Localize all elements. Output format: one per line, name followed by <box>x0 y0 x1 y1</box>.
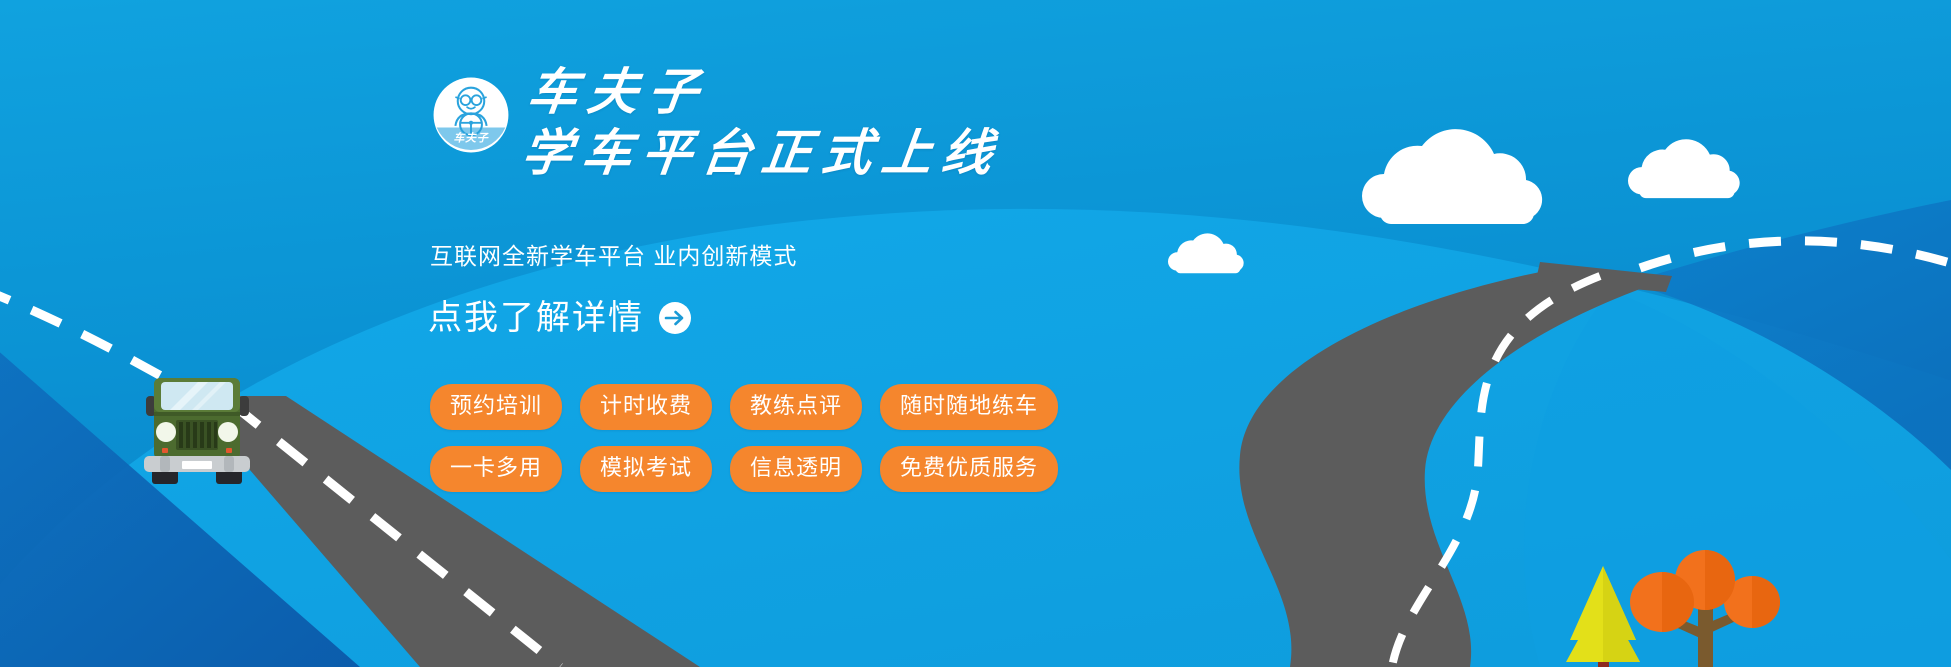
tag-yika-duoyong[interactable]: 一卡多用 <box>430 446 562 492</box>
headline-line-2: 学车平台正式上线 <box>518 122 1172 184</box>
tag-xinxi-touming[interactable]: 信息透明 <box>730 446 862 492</box>
promo-banner: 车夫子 车夫子 学车平台正式上线 互联网全新学车平台 业内创新模式 点我了解详情… <box>0 0 1951 667</box>
arrow-right-circle-icon <box>658 301 692 335</box>
cta-label: 点我了解详情 <box>428 298 644 338</box>
tag-suishi-suidi-lianche[interactable]: 随时随地练车 <box>880 384 1058 430</box>
jeep-headlight-right <box>218 422 238 442</box>
logo-badge-text: 车夫子 <box>453 132 488 145</box>
tag-jishi-shoufei[interactable]: 计时收费 <box>580 384 712 430</box>
feature-tags-row-2: 一卡多用 模拟考试 信息透明 免费优质服务 <box>430 446 1150 492</box>
tag-mianfei-youzhi-fuwu[interactable]: 免费优质服务 <box>880 446 1058 492</box>
headline: 车夫子 学车平台正式上线 <box>528 62 1168 184</box>
headline-line-1: 车夫子 <box>524 62 1171 122</box>
jeep-headlight-left <box>156 422 176 442</box>
feature-tags: 预约培训 计时收费 教练点评 随时随地练车 一卡多用 模拟考试 信息透明 免费优… <box>430 384 1150 508</box>
subtitle: 互联网全新学车平台 业内创新模式 <box>430 242 797 270</box>
tag-jiaolian-dianping[interactable]: 教练点评 <box>730 384 862 430</box>
cta-learn-more[interactable]: 点我了解详情 <box>428 298 692 338</box>
jeep <box>144 378 250 484</box>
brand-row: 车夫子 车夫子 学车平台正式上线 <box>418 66 1178 196</box>
feature-tags-row-1: 预约培训 计时收费 教练点评 随时随地练车 <box>430 384 1150 430</box>
banner-content: 车夫子 车夫子 学车平台正式上线 互联网全新学车平台 业内创新模式 点我了解详情… <box>418 66 1178 196</box>
jeep-mirror-right <box>239 396 249 416</box>
jeep-licence-plate <box>182 461 212 469</box>
tag-moni-kaoshi[interactable]: 模拟考试 <box>580 446 712 492</box>
tag-yuyue-peixun[interactable]: 预约培训 <box>430 384 562 430</box>
chefuzi-logo[interactable]: 车夫子 <box>432 76 510 154</box>
